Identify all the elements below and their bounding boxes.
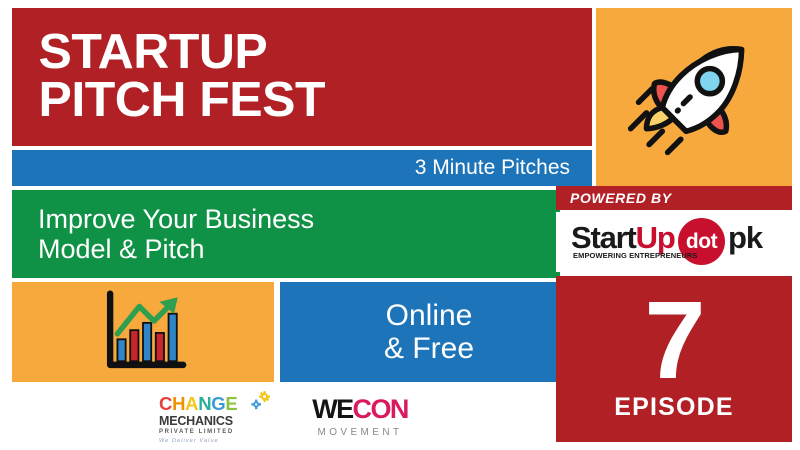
sponsor-word-pk: pk bbox=[728, 220, 762, 256]
tagline-line-2: Model & Pitch bbox=[12, 234, 560, 264]
growth-chart-panel bbox=[12, 282, 274, 382]
online-line-2: & Free bbox=[280, 332, 560, 365]
online-line-1: Online bbox=[280, 299, 560, 332]
change-mechanics-entity: PRIVATE LIMITED bbox=[159, 428, 263, 437]
sponsor-logo-panel: StartUp dot pk EMPOWERING ENTREPRENEURS bbox=[556, 212, 792, 272]
cm-letter-c: C bbox=[159, 395, 172, 414]
wecon-word-con: CON bbox=[353, 394, 408, 424]
episode-label: EPISODE bbox=[614, 393, 734, 422]
powered-by-label: POWERED BY bbox=[556, 190, 672, 206]
subtitle-block: 3 Minute Pitches bbox=[12, 150, 592, 186]
change-mechanics-slogan: We Deliver Value bbox=[159, 437, 263, 445]
poster-canvas: STARTUP PITCH FEST 3 Minute Pitches bbox=[0, 0, 800, 450]
change-mechanics-logo: CHANGE MECHANICS PRIVATE LIMITED We Deli… bbox=[159, 395, 263, 441]
tagline-line-1: Improve Your Business bbox=[12, 204, 560, 234]
cm-letter-g: G bbox=[211, 395, 225, 414]
powered-by-band: POWERED BY bbox=[556, 186, 792, 210]
wecon-movement-logo: WECON MOVEMENT bbox=[307, 396, 413, 440]
sponsor-word-dot: dot bbox=[686, 230, 717, 254]
tagline-block: Improve Your Business Model & Pitch bbox=[12, 190, 560, 278]
online-free-block: Online & Free bbox=[280, 282, 560, 382]
rocket-icon bbox=[628, 31, 760, 163]
sponsor-word-up: Up bbox=[636, 220, 675, 255]
cm-letter-e: E bbox=[225, 395, 237, 414]
wecon-subtitle: MOVEMENT bbox=[307, 425, 413, 440]
cm-letter-a: A bbox=[185, 395, 198, 414]
title-line-1: STARTUP bbox=[12, 29, 604, 77]
cm-letter-h: H bbox=[172, 395, 185, 414]
wecon-word-we: WE bbox=[312, 394, 352, 424]
episode-number: 7 bbox=[644, 296, 703, 386]
partner-logos-row: CHANGE MECHANICS PRIVATE LIMITED We Deli… bbox=[12, 392, 560, 444]
growth-chart-icon bbox=[97, 290, 189, 374]
sponsor-word-start: Start bbox=[571, 220, 636, 255]
title-block: STARTUP PITCH FEST bbox=[12, 8, 592, 146]
subtitle-text: 3 Minute Pitches bbox=[415, 156, 592, 180]
title-line-2: PITCH FEST bbox=[12, 77, 604, 125]
rocket-panel bbox=[596, 8, 792, 186]
change-mechanics-subname: MECHANICS bbox=[159, 414, 263, 428]
startup-dot-pk-logo: StartUp dot pk EMPOWERING ENTREPRENEURS bbox=[571, 218, 777, 266]
sponsor-tagline: EMPOWERING ENTREPRENEURS bbox=[573, 251, 698, 260]
episode-panel: 7 EPISODE bbox=[556, 276, 792, 442]
wecon-wordmark: WECON bbox=[307, 396, 413, 423]
change-mechanics-wordmark: CHANGE bbox=[159, 395, 263, 414]
gears-icon bbox=[249, 391, 273, 413]
cm-letter-n: N bbox=[198, 395, 211, 414]
